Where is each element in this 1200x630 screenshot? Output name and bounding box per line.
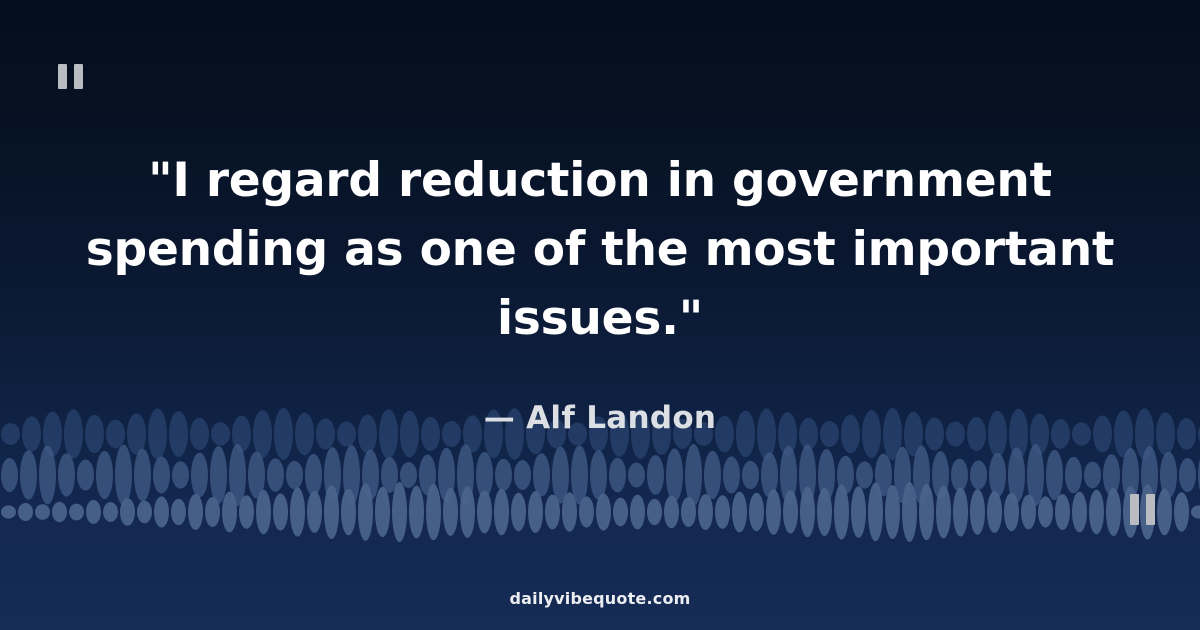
waveform-bar [324,447,341,503]
waveform-bar [1174,492,1189,532]
waveform-bar [704,451,721,499]
waveform-bar [286,461,303,490]
waveform-bar [989,453,1006,497]
waveform-bar [562,492,577,532]
waveform-bar [476,452,493,498]
waveform-bar [39,446,56,505]
waveform-bar [409,486,424,539]
waveform-bar [229,444,246,506]
waveform-bar [362,450,379,501]
waveform-bar [514,460,531,490]
waveform-bar [1021,495,1036,530]
quote-close-icon [1130,494,1155,525]
waveform-bar [1089,490,1104,534]
waveform-bar [460,486,475,538]
waveform-bar [987,491,1002,533]
waveform-bar [932,451,949,499]
waveform-bar [248,451,265,498]
waveform-bar [1038,496,1053,527]
waveform-bar [120,498,135,526]
waveform-bar [837,456,854,494]
waveform-bar [172,461,189,488]
waveform-bar [596,493,611,530]
waveform-bar [343,445,360,505]
waveform-bar [305,454,322,496]
waveform-bar [188,494,203,530]
waveform-bar [885,485,900,539]
waveform-bar [894,447,911,503]
waveform-bar [171,499,186,525]
waveform-bar [426,484,441,540]
waveform-bar [732,492,747,533]
waveform-bar [834,484,849,539]
waveform-bar [1179,458,1196,492]
waveform-bar [86,500,101,524]
waveform-bar [511,493,526,531]
waveform-bar [970,489,985,535]
waveform-bar [341,489,356,536]
waveform-bar [20,450,37,500]
waveform-bar [936,486,951,539]
waveform-bar [681,497,696,527]
waveform-bar [953,487,968,536]
waveform-bar [647,455,664,495]
waveform-bar [137,501,152,524]
waveform-bar [685,444,702,506]
waveform-bar [115,445,132,506]
waveform-bar [210,446,227,504]
waveform-bar [856,461,873,488]
waveform-bar [590,450,607,500]
waveform-bar [533,453,550,496]
waveform-bar [58,453,75,496]
site-footer: dailyvibequote.com [0,589,1200,608]
quote-card: "I regard reduction in government spendi… [0,0,1200,630]
waveform-bar [609,458,626,493]
waveform-bar [1008,447,1025,502]
waveform-bar [783,490,798,533]
waveform-bar [1106,488,1121,536]
quote-open-bar-left [58,64,67,89]
waveform-bar [1157,489,1172,536]
waveform-bar [749,493,764,531]
waveform-bar [780,446,797,504]
waveform-bar [256,490,271,534]
waveform-bar [1103,454,1120,496]
waveform-bar [1072,492,1087,533]
waveform-row-mid [1,444,1200,506]
waveform-bar [875,454,892,497]
waveform-bar [96,451,113,499]
waveform-bar [222,492,237,533]
waveform-bar [267,458,284,491]
waveform-bar [77,460,94,491]
waveform-bar [381,457,398,493]
waveform-bar [868,483,883,542]
waveform-bar [239,495,254,529]
waveform-bar [392,482,407,542]
waveform-bar [400,462,417,488]
waveform-bar [698,494,713,530]
waveform-bar [818,449,835,501]
waveform-bar [457,444,474,505]
quote-close-bar-left [1130,494,1139,525]
waveform-bar [799,445,816,506]
waveform-bar [1,458,18,492]
waveform-bar [1,505,16,518]
waveform-bar [154,496,169,527]
waveform-bar [800,487,815,537]
waveform-bar [495,459,512,491]
waveform-bar [205,497,220,527]
waveform-bar [742,461,759,490]
waveform-bar [35,504,50,520]
waveform-bar [153,456,170,493]
waveform-bar [1055,494,1070,530]
waveform-bar [628,463,645,488]
waveform-bar [579,496,594,527]
waveform-bar [817,488,832,536]
waveform-bar [1004,493,1019,531]
waveform-bar [290,487,305,536]
quote-open-bar-right [74,64,83,89]
waveform-bar [134,449,151,502]
waveform-bar [438,448,455,503]
waveform-bar [851,486,866,538]
quote-text: "I regard reduction in government spendi… [60,146,1140,353]
waveform-bar [52,502,67,522]
waveform-bar [18,503,33,521]
waveform-bar [552,446,569,503]
waveform-bar [443,488,458,536]
waveform-bar [419,455,436,496]
waveform-bar [715,495,730,529]
waveform-bar [1084,462,1101,489]
waveform-bar [273,493,288,530]
waveform-bar [375,487,390,537]
waveform-bar [545,495,560,530]
waveform-bar [69,504,84,521]
waveform-bar [970,460,987,489]
waveform-bar [191,453,208,498]
waveform-bar [1046,450,1063,500]
quote-close-bar-right [1146,494,1155,525]
waveform-row-front [1,482,1200,542]
waveform-bar [664,496,679,528]
waveform-bar [528,491,543,533]
waveform-bar [951,459,968,492]
waveform-bar [766,489,781,535]
waveform-bar [630,495,645,530]
waveform-bar [902,482,917,542]
waveform-bar [1027,444,1044,506]
waveform-bar [494,489,509,536]
waveform-bar [324,485,339,539]
waveform-bar [647,499,662,525]
waveform-bar [477,490,492,533]
waveform-bar [103,502,118,522]
waveform-bar [571,445,588,505]
waveform-bar [358,483,373,541]
waveform-bar [307,491,322,533]
waveform-bar [919,484,934,540]
waveform-bar [666,448,683,501]
waveform-bar [1065,457,1082,494]
quote-attribution: — Alf Landon [0,400,1200,436]
waveform-bar [1191,505,1200,518]
waveform-bar [613,498,628,527]
quote-open-icon [58,64,83,89]
waveform-bar [1160,452,1177,499]
waveform-bar [723,456,740,493]
waveform-bar [761,452,778,497]
waveform-bar [913,446,930,505]
